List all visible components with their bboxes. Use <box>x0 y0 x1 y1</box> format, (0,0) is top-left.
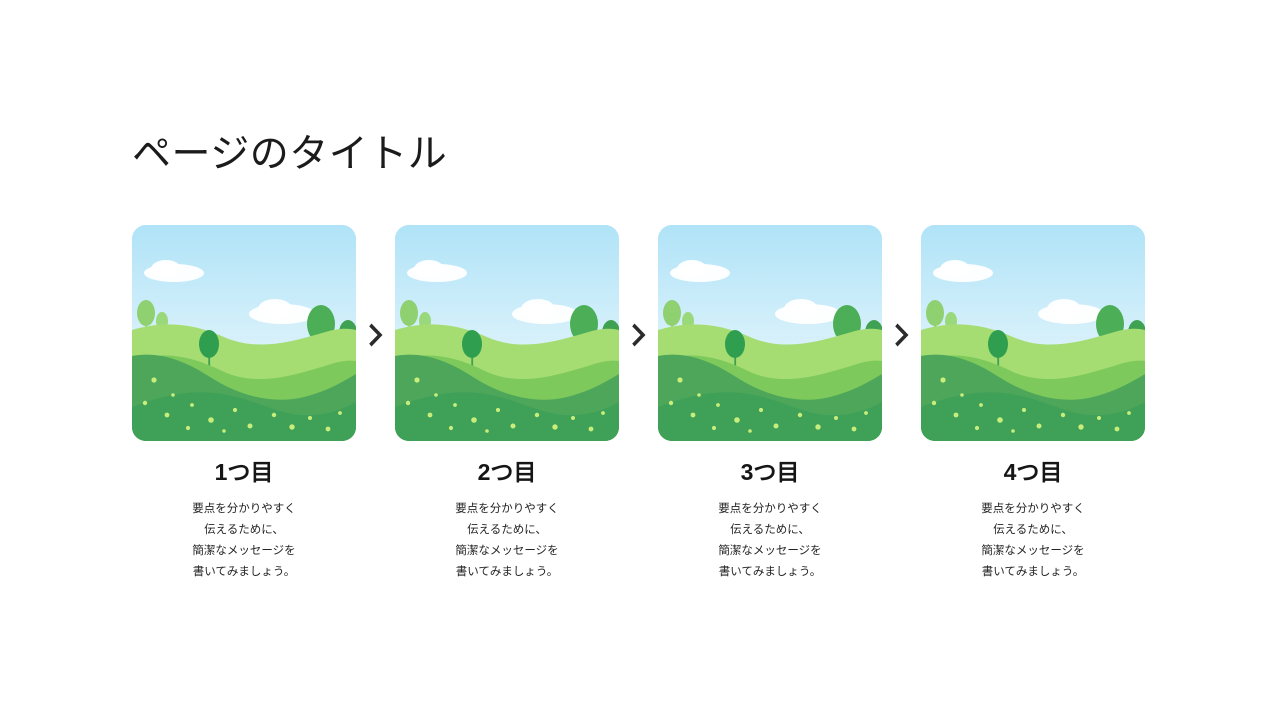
step-body-line: 簡潔なメッセージを <box>929 541 1137 562</box>
step-heading-3: 3つ目 <box>658 458 882 487</box>
step-card-3[interactable]: 3つ目 要点を分かりやすく 伝えるために、 簡潔なメッセージを 書いてみましょう… <box>658 225 882 583</box>
step-body-3: 要点を分かりやすく 伝えるために、 簡潔なメッセージを 書いてみましょう。 <box>658 499 882 583</box>
step-body-line: 要点を分かりやすく <box>666 499 874 520</box>
step-heading-1: 1つ目 <box>132 458 356 487</box>
step-arrow-3 <box>890 320 916 350</box>
step-body-line: 伝えるために、 <box>666 520 874 541</box>
chevron-right-icon <box>632 322 648 348</box>
page-title: ページのタイトル <box>132 132 447 179</box>
step-body-line: 書いてみましょう。 <box>403 562 611 583</box>
step-body-1: 要点を分かりやすく 伝えるために、 簡潔なメッセージを 書いてみましょう。 <box>132 499 356 583</box>
step-body-line: 簡潔なメッセージを <box>140 541 348 562</box>
step-heading-2: 2つ目 <box>395 458 619 487</box>
step-image-2 <box>395 225 619 441</box>
landscape-illustration-icon <box>921 225 1145 441</box>
step-body-line: 要点を分かりやすく <box>403 499 611 520</box>
step-body-2: 要点を分かりやすく 伝えるために、 簡潔なメッセージを 書いてみましょう。 <box>395 499 619 583</box>
step-body-line: 書いてみましょう。 <box>666 562 874 583</box>
step-body-line: 伝えるために、 <box>929 520 1137 541</box>
step-body-line: 要点を分かりやすく <box>929 499 1137 520</box>
step-arrow-1 <box>364 320 390 350</box>
step-body-4: 要点を分かりやすく 伝えるために、 簡潔なメッセージを 書いてみましょう。 <box>921 499 1145 583</box>
step-body-line: 簡潔なメッセージを <box>666 541 874 562</box>
step-body-line: 要点を分かりやすく <box>140 499 348 520</box>
step-heading-4: 4つ目 <box>921 458 1145 487</box>
steps-row: 1つ目 要点を分かりやすく 伝えるために、 簡潔なメッセージを 書いてみましょう… <box>132 225 1146 595</box>
step-card-1[interactable]: 1つ目 要点を分かりやすく 伝えるために、 簡潔なメッセージを 書いてみましょう… <box>132 225 356 583</box>
chevron-right-icon <box>895 322 911 348</box>
landscape-illustration-icon <box>395 225 619 441</box>
chevron-right-icon <box>369 322 385 348</box>
step-body-line: 書いてみましょう。 <box>140 562 348 583</box>
step-body-line: 伝えるために、 <box>403 520 611 541</box>
step-image-1 <box>132 225 356 441</box>
landscape-illustration-icon <box>132 225 356 441</box>
step-card-4[interactable]: 4つ目 要点を分かりやすく 伝えるために、 簡潔なメッセージを 書いてみましょう… <box>921 225 1145 583</box>
slide-canvas: ページのタイトル <box>0 0 1280 720</box>
landscape-illustration-icon <box>658 225 882 441</box>
step-body-line: 簡潔なメッセージを <box>403 541 611 562</box>
step-image-3 <box>658 225 882 441</box>
step-arrow-2 <box>627 320 653 350</box>
step-card-2[interactable]: 2つ目 要点を分かりやすく 伝えるために、 簡潔なメッセージを 書いてみましょう… <box>395 225 619 583</box>
step-body-line: 伝えるために、 <box>140 520 348 541</box>
step-image-4 <box>921 225 1145 441</box>
step-body-line: 書いてみましょう。 <box>929 562 1137 583</box>
